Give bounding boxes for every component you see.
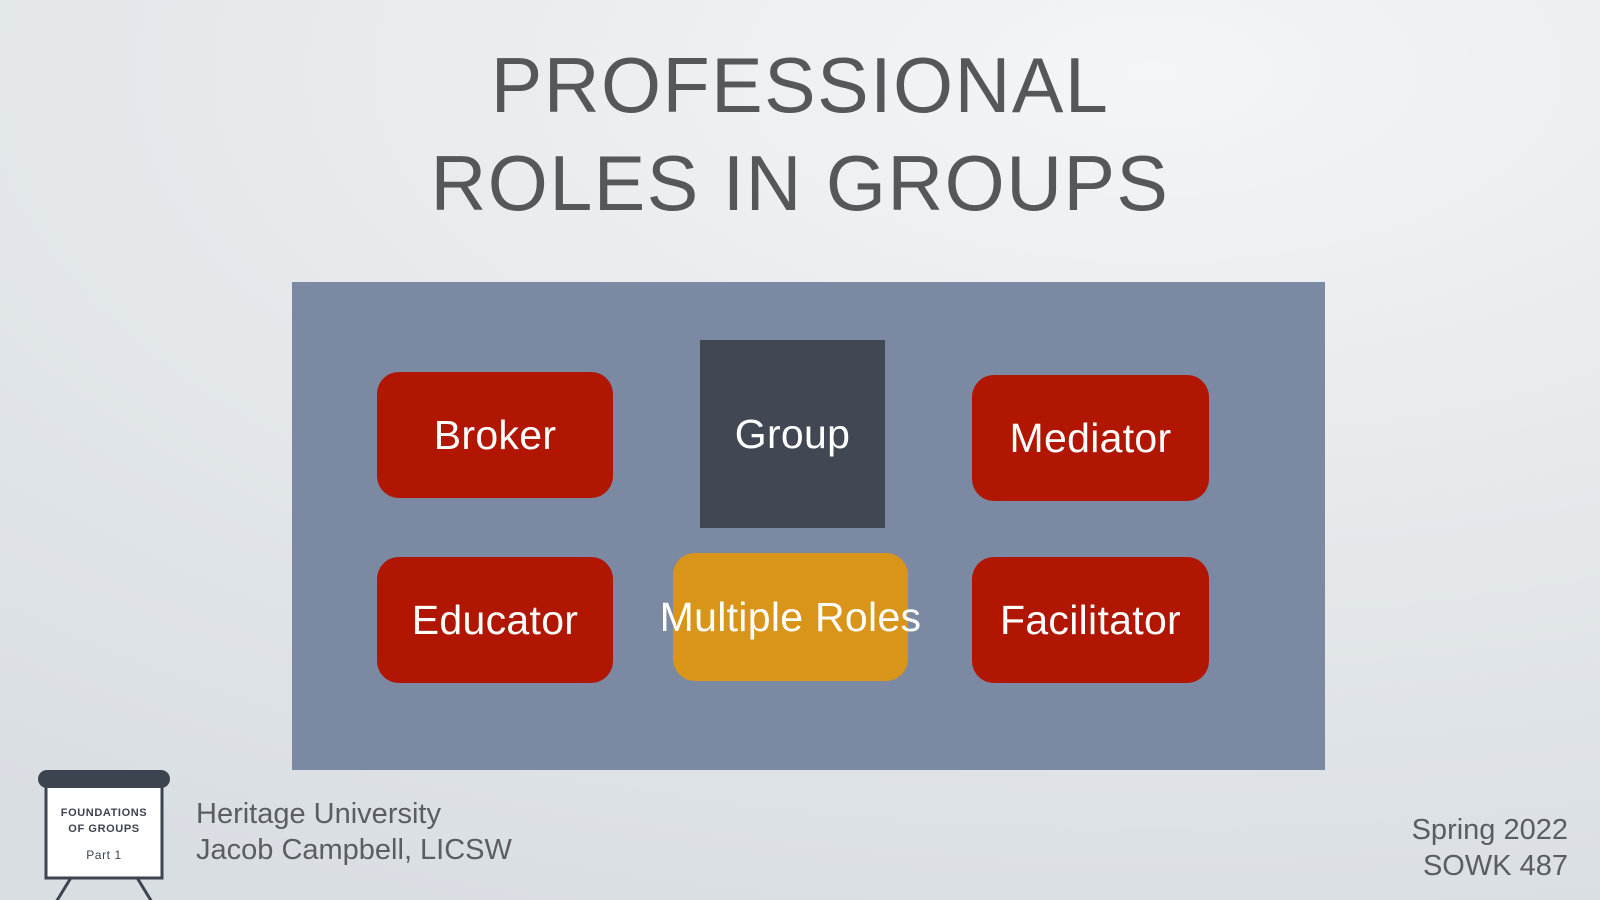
diagram-node-mediator[interactable]: Mediator bbox=[972, 375, 1209, 501]
diagram-node-multiple-roles[interactable]: Multiple Roles bbox=[673, 553, 908, 681]
diagram-node-group[interactable]: Group bbox=[700, 340, 885, 528]
footer-attribution: Heritage University Jacob Campbell, LICS… bbox=[196, 796, 512, 868]
logo-subtitle: Part 1 bbox=[86, 848, 122, 862]
easel-flipchart-icon: FOUNDATIONS OF GROUPS Part 1 bbox=[30, 760, 178, 900]
diagram-node-facilitator-label: Facilitator bbox=[1000, 597, 1181, 644]
diagram-node-educator[interactable]: Educator bbox=[377, 557, 613, 683]
diagram-node-broker-label: Broker bbox=[434, 412, 557, 459]
footer-course-info: Spring 2022 SOWK 487 bbox=[1412, 812, 1568, 884]
diagram-panel: Broker Group Mediator Educator Multiple … bbox=[292, 282, 1325, 770]
diagram-node-group-label: Group bbox=[735, 411, 850, 458]
diagram-node-facilitator[interactable]: Facilitator bbox=[972, 557, 1209, 683]
page-title: PROFESSIONAL ROLES IN GROUPS bbox=[8, 36, 1592, 232]
diagram-node-broker[interactable]: Broker bbox=[377, 372, 613, 498]
diagram-node-educator-label: Educator bbox=[412, 597, 579, 644]
logo-title-line-1: FOUNDATIONS bbox=[61, 807, 147, 819]
slide-canvas: PROFESSIONAL ROLES IN GROUPS Broker Grou… bbox=[0, 0, 1600, 900]
diagram-node-multiple-roles-label: Multiple Roles bbox=[660, 594, 922, 641]
logo-title-line-2: OF GROUPS bbox=[68, 823, 139, 835]
diagram-node-mediator-label: Mediator bbox=[1010, 415, 1172, 462]
